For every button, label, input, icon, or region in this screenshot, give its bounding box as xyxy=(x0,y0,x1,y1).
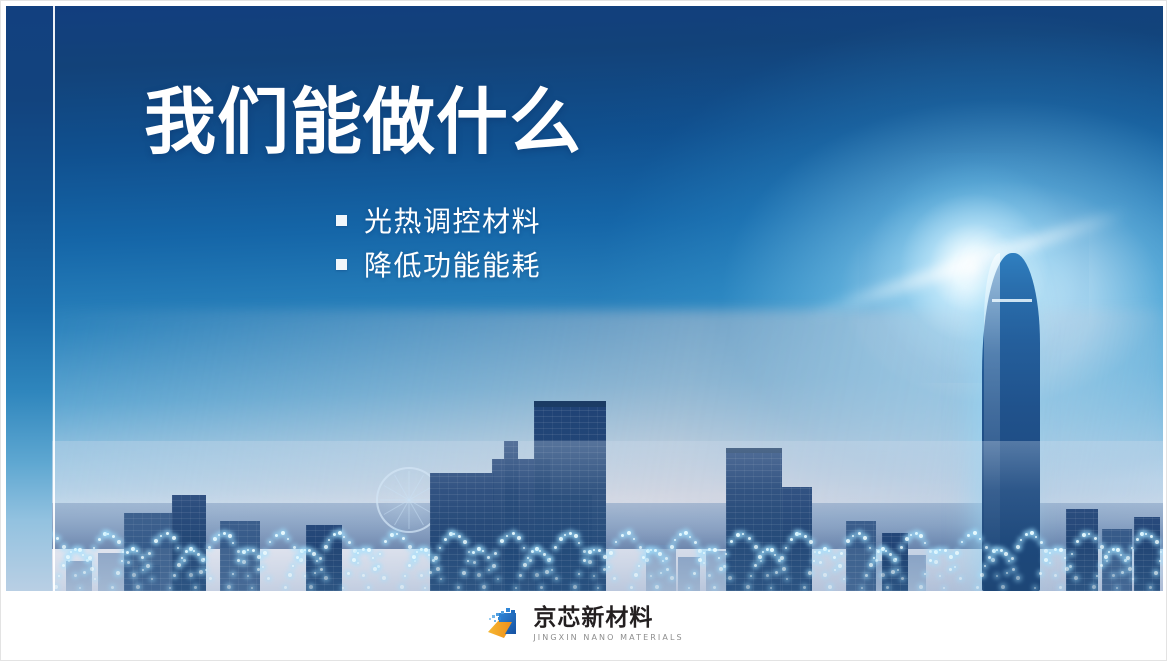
network-dot xyxy=(838,564,842,568)
network-dot xyxy=(973,531,977,535)
network-dot xyxy=(338,531,342,535)
network-dot xyxy=(910,534,912,536)
network-dot xyxy=(237,559,240,562)
network-dot xyxy=(658,552,662,556)
network-dot xyxy=(1012,568,1015,571)
list-item: 降低功能能耗 xyxy=(336,242,541,286)
network-dot xyxy=(293,546,296,549)
network-dot xyxy=(177,547,179,549)
network-dot xyxy=(1059,586,1062,589)
network-dot xyxy=(457,586,460,589)
network-dot xyxy=(900,546,903,549)
left-divider-rule xyxy=(53,6,55,591)
network-dot xyxy=(348,541,351,544)
network-dot xyxy=(684,531,688,535)
network-dot xyxy=(316,560,318,562)
network-dot xyxy=(979,538,981,540)
network-dot xyxy=(420,548,423,551)
network-dot xyxy=(1126,556,1130,560)
network-dot xyxy=(770,548,774,552)
network-dot xyxy=(1059,548,1063,552)
network-dot xyxy=(414,560,416,562)
network-dot xyxy=(588,560,592,564)
network-dot xyxy=(439,547,441,549)
network-dot xyxy=(314,572,316,574)
network-dot xyxy=(698,558,702,562)
network-dot xyxy=(473,561,476,564)
network-dot xyxy=(774,554,776,556)
building-tall-center-crown xyxy=(534,401,606,407)
network-dot xyxy=(424,548,428,552)
network-dot xyxy=(665,557,668,560)
network-dot xyxy=(1035,536,1037,538)
network-dot xyxy=(74,574,77,577)
network-dot xyxy=(679,533,682,536)
network-dot xyxy=(780,556,784,560)
network-dot xyxy=(1006,572,1008,574)
network-dot xyxy=(353,549,357,553)
network-dot xyxy=(593,575,595,577)
network-dot xyxy=(924,542,926,544)
network-dot xyxy=(694,541,697,544)
network-dot xyxy=(654,549,657,552)
network-dot xyxy=(795,532,799,536)
network-dot xyxy=(873,557,875,559)
network-dot xyxy=(762,551,764,553)
network-dot xyxy=(373,567,377,571)
network-dot xyxy=(467,560,469,562)
network-dot xyxy=(1049,562,1051,564)
company-logo: 京芯新材料 JINGXIN NANO MATERIALS xyxy=(485,607,683,642)
network-dot xyxy=(463,540,467,544)
network-dot xyxy=(56,537,59,540)
bullet-label: 降低功能能耗 xyxy=(364,244,541,284)
network-dot xyxy=(205,569,207,571)
network-dot xyxy=(512,532,515,535)
network-dot xyxy=(408,564,411,567)
network-dot xyxy=(367,548,371,552)
network-dot xyxy=(782,567,786,571)
network-dot xyxy=(223,532,226,535)
network-dot xyxy=(750,575,752,577)
network-dot xyxy=(488,569,490,571)
building-tall-right-crown xyxy=(726,448,782,453)
network-dot xyxy=(955,551,959,555)
network-dot xyxy=(1088,533,1090,535)
network-dot xyxy=(1131,547,1133,549)
network-dot xyxy=(183,559,186,562)
network-dot xyxy=(1076,540,1079,543)
network-dot xyxy=(218,534,220,536)
network-dot xyxy=(944,549,947,552)
network-dot xyxy=(954,566,956,568)
network-dot xyxy=(949,555,953,559)
network-dot xyxy=(814,551,816,553)
network-dot xyxy=(169,587,171,589)
network-dot xyxy=(382,576,386,580)
network-dot xyxy=(343,536,345,538)
network-dot xyxy=(523,547,525,549)
network-dot xyxy=(112,535,115,538)
network-dot xyxy=(529,559,532,562)
network-dot xyxy=(1159,560,1161,562)
tower-stripe xyxy=(992,299,1032,302)
network-dot xyxy=(154,539,158,543)
network-dot xyxy=(492,564,496,568)
network-dot xyxy=(535,573,539,577)
network-dot xyxy=(1155,540,1159,544)
network-dot xyxy=(66,555,70,559)
network-dot xyxy=(1121,571,1124,574)
logo-text-block: 京芯新材料 JINGXIN NANO MATERIALS xyxy=(533,607,683,642)
network-dot xyxy=(719,567,723,571)
network-dot xyxy=(905,537,909,541)
network-dot xyxy=(588,550,592,554)
network-dot xyxy=(1000,549,1003,552)
network-dot xyxy=(1112,574,1115,577)
network-dot xyxy=(342,587,344,589)
network-dot xyxy=(257,568,260,571)
network-dot xyxy=(823,573,827,577)
network-dot xyxy=(515,587,517,589)
network-dot xyxy=(693,572,696,575)
network-dot xyxy=(324,576,328,580)
network-dot xyxy=(660,572,662,574)
network-dot xyxy=(428,554,430,556)
network-dot xyxy=(985,546,988,549)
network-dot xyxy=(262,566,264,568)
network-dot xyxy=(1011,557,1014,560)
network-dot xyxy=(564,534,566,536)
network-dot xyxy=(111,586,114,589)
network-dot xyxy=(1039,572,1042,575)
network-dot xyxy=(352,558,356,562)
network-dot xyxy=(897,569,899,571)
network-dot xyxy=(462,571,466,575)
network-dot xyxy=(1054,548,1057,551)
network-dot xyxy=(434,556,438,560)
network-dot xyxy=(420,574,423,577)
network-dot xyxy=(1096,575,1098,577)
network-dot xyxy=(213,537,217,541)
network-dot xyxy=(885,550,887,552)
network-dot xyxy=(58,575,60,577)
network-dot xyxy=(160,535,162,537)
network-dot xyxy=(718,557,720,559)
network-dot xyxy=(666,568,669,571)
network-dot xyxy=(173,574,176,577)
network-dot xyxy=(609,551,613,555)
network-dot xyxy=(126,551,129,554)
network-dot xyxy=(573,585,577,589)
network-dot xyxy=(78,548,82,552)
network-dot xyxy=(961,541,963,543)
network-dot xyxy=(760,560,762,562)
square-bullet-icon xyxy=(336,215,347,226)
network-dot xyxy=(919,585,923,589)
network-dot xyxy=(79,587,81,589)
network-dot xyxy=(148,552,151,555)
network-dot xyxy=(655,585,659,589)
list-item: 光热调控材料 xyxy=(336,198,541,242)
network-dot xyxy=(996,549,998,551)
page-title: 我们能做什么 xyxy=(144,84,582,160)
network-dot xyxy=(980,573,984,577)
network-dot xyxy=(117,540,121,544)
network-dot xyxy=(177,563,181,567)
network-dot xyxy=(642,556,645,559)
network-dot xyxy=(500,539,504,543)
network-dot xyxy=(593,549,595,551)
network-dot xyxy=(1040,541,1043,544)
network-dot xyxy=(833,556,836,559)
network-dot xyxy=(1116,587,1118,589)
network-dot xyxy=(131,547,135,551)
network-dot xyxy=(708,574,711,577)
network-dot xyxy=(598,549,601,552)
network-dot xyxy=(472,551,475,554)
network-dot xyxy=(242,560,246,564)
network-dot xyxy=(122,551,124,553)
network-dot xyxy=(242,550,246,554)
network-dot xyxy=(1004,552,1008,556)
network-dot xyxy=(1140,532,1144,536)
network-dot xyxy=(93,547,95,549)
network-dot xyxy=(449,532,453,536)
network-dot xyxy=(1154,571,1158,575)
network-dot xyxy=(569,532,572,535)
network-dot xyxy=(181,557,183,559)
network-dot xyxy=(603,568,606,571)
network-dot xyxy=(803,586,806,589)
network-dot xyxy=(1016,545,1020,549)
network-dot xyxy=(967,534,970,537)
network-dot xyxy=(103,532,107,536)
network-dot xyxy=(284,586,287,589)
network-dot xyxy=(384,540,387,543)
network-dot xyxy=(863,536,867,540)
network-dot-overlay xyxy=(6,505,1163,591)
network-dot xyxy=(390,533,394,537)
network-dot xyxy=(919,534,923,538)
network-dot xyxy=(142,569,144,571)
network-dot xyxy=(477,547,481,551)
network-dot xyxy=(396,533,398,535)
network-dot xyxy=(877,550,880,553)
network-dot xyxy=(645,558,649,562)
network-dot xyxy=(232,542,234,544)
network-dot xyxy=(412,555,416,559)
network-dot xyxy=(875,559,878,562)
network-dot xyxy=(263,551,267,555)
network-dot xyxy=(1104,555,1108,559)
network-dot xyxy=(440,578,442,580)
network-dot xyxy=(730,540,733,543)
network-dot xyxy=(62,564,65,567)
network-dot xyxy=(808,571,812,575)
network-dot xyxy=(915,532,918,535)
network-dot xyxy=(166,532,169,535)
network-dot xyxy=(193,550,195,552)
network-dot xyxy=(943,587,945,589)
network-dot xyxy=(790,538,793,541)
network-dot xyxy=(775,571,778,574)
network-dot xyxy=(615,541,617,543)
network-dot xyxy=(296,556,299,559)
network-dot xyxy=(865,574,868,577)
network-dot xyxy=(650,549,652,551)
network-dot xyxy=(988,556,991,559)
network-dot xyxy=(209,577,212,580)
network-dot xyxy=(674,539,676,541)
network-dot xyxy=(269,541,271,543)
network-dot xyxy=(804,535,807,538)
network-dot xyxy=(288,573,292,577)
network-dot xyxy=(1044,558,1048,562)
network-dot xyxy=(232,573,234,575)
network-dot xyxy=(362,574,365,577)
network-dot xyxy=(578,542,580,544)
network-dot xyxy=(185,550,188,553)
network-dot xyxy=(333,533,336,536)
network-dot xyxy=(725,553,727,555)
network-dot xyxy=(545,570,549,574)
network-dot xyxy=(362,548,365,551)
network-dot xyxy=(603,555,607,559)
network-dot xyxy=(88,556,92,560)
network-dot xyxy=(287,538,289,540)
network-dot xyxy=(1054,574,1057,577)
network-dot xyxy=(627,531,631,535)
network-dot xyxy=(689,536,691,538)
network-dot xyxy=(357,562,359,564)
network-dot xyxy=(984,565,986,567)
network-dot xyxy=(237,550,240,553)
network-dot xyxy=(1016,576,1020,580)
network-dot xyxy=(267,577,270,580)
network-dot xyxy=(83,571,86,574)
network-dot xyxy=(132,573,136,577)
network-dot xyxy=(723,565,726,568)
network-dot xyxy=(703,562,705,564)
network-dot xyxy=(1132,578,1134,580)
network-dot xyxy=(1069,565,1072,568)
network-dot xyxy=(1094,537,1097,540)
logo-name-en: JINGXIN NANO MATERIALS xyxy=(533,634,683,642)
network-dot xyxy=(304,549,306,551)
network-dot xyxy=(477,573,481,577)
network-dot xyxy=(121,560,123,562)
network-dot xyxy=(929,559,932,562)
network-dot xyxy=(959,577,962,580)
network-dot xyxy=(1150,535,1153,538)
network-dot xyxy=(583,550,586,553)
network-dot xyxy=(458,535,461,538)
network-dot xyxy=(708,548,711,551)
slide-canvas: 我们能做什么 光热调控材料 降低功能能耗 xyxy=(6,6,1163,657)
network-dot xyxy=(468,551,470,553)
network-dot xyxy=(555,577,558,580)
network-dot xyxy=(554,546,557,549)
network-dot xyxy=(713,548,717,552)
network-dot xyxy=(766,574,769,577)
network-dot xyxy=(519,574,522,577)
network-dot xyxy=(869,563,873,567)
network-dot xyxy=(506,535,508,537)
square-bullet-icon xyxy=(336,259,347,270)
network-dot xyxy=(889,553,892,556)
network-dot xyxy=(934,550,938,554)
network-dot xyxy=(583,559,586,562)
network-dot xyxy=(634,573,638,577)
network-dot xyxy=(996,575,998,577)
network-dot xyxy=(444,538,447,541)
network-dot xyxy=(247,549,249,551)
network-dot xyxy=(688,587,690,589)
network-dot xyxy=(799,533,801,535)
bullet-label: 光热调控材料 xyxy=(364,200,541,240)
network-dot xyxy=(1100,545,1104,549)
network-dot xyxy=(324,545,328,549)
network-dot xyxy=(377,565,380,568)
network-dot xyxy=(728,576,732,580)
network-dot xyxy=(90,567,94,571)
network-dot xyxy=(487,556,490,559)
network-dot xyxy=(766,548,769,551)
network-dot xyxy=(976,586,979,589)
network-dot xyxy=(127,561,130,564)
network-dot xyxy=(482,550,484,552)
network-dot xyxy=(861,587,863,589)
network-dot xyxy=(1071,553,1073,555)
network-dot xyxy=(312,552,316,556)
network-dot xyxy=(633,538,635,540)
network-dot xyxy=(1082,533,1086,537)
network-dot xyxy=(813,560,815,562)
network-dot xyxy=(858,532,861,535)
network-dot xyxy=(527,557,529,559)
network-dot xyxy=(758,555,762,559)
network-dot xyxy=(578,573,580,575)
network-dot xyxy=(292,565,294,567)
network-dot xyxy=(924,573,926,575)
network-dot xyxy=(1092,585,1096,589)
network-dot xyxy=(531,550,534,553)
network-dot xyxy=(748,537,751,540)
network-dot xyxy=(703,552,705,554)
network-dot xyxy=(770,587,772,589)
network-dot xyxy=(94,578,96,580)
network-dot xyxy=(886,586,889,589)
network-dot xyxy=(517,536,521,540)
network-dot xyxy=(68,560,70,562)
network-dot xyxy=(357,552,359,554)
network-dot xyxy=(172,536,176,540)
network-dot xyxy=(574,534,578,538)
network-dot xyxy=(1065,567,1069,571)
network-dot xyxy=(400,585,404,589)
network-dot xyxy=(404,575,406,577)
network-dot xyxy=(713,586,716,589)
network-dot xyxy=(746,585,750,589)
network-dot xyxy=(551,569,553,571)
network-dot xyxy=(194,586,197,589)
network-dot xyxy=(891,570,895,574)
network-dot xyxy=(1106,560,1108,562)
network-dot xyxy=(62,545,66,549)
network-dot xyxy=(1100,564,1103,567)
network-dot xyxy=(424,587,426,589)
